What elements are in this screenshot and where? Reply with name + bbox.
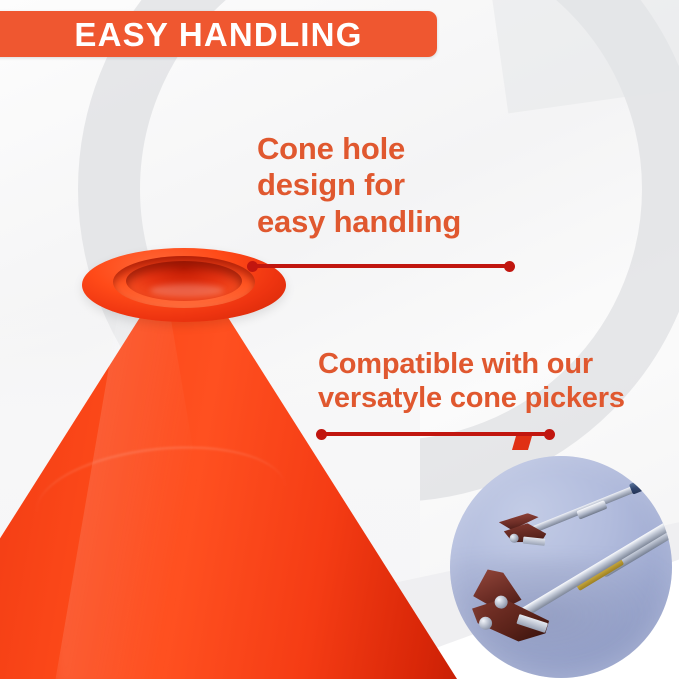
cone-picker-inset-photo <box>450 456 672 678</box>
connector-dot-right <box>504 261 515 272</box>
callout-compatible-pickers: Compatible with our versatyle cone picke… <box>318 348 679 416</box>
connector-dot-right <box>544 429 555 440</box>
cone-hole-gloss <box>150 284 224 297</box>
callout-line: easy handling <box>257 204 527 240</box>
callout-line: design for <box>257 167 527 203</box>
connector-dot-left <box>316 429 327 440</box>
traffic-cone-image <box>0 248 464 679</box>
callout-connector-line-1 <box>250 264 512 268</box>
infographic-canvas: EASY HANDLING Cone hole design for easy … <box>0 0 679 679</box>
header-banner-label: EASY HANDLING <box>60 18 362 51</box>
header-banner: EASY HANDLING <box>0 11 437 57</box>
callout-line: versatyle cone pickers <box>318 382 679 416</box>
connector-dot-left <box>247 261 258 272</box>
callout-line: Cone hole <box>257 131 527 167</box>
picker-upper-clamp-head <box>496 510 546 555</box>
picker-lower-clamp-head <box>465 565 554 649</box>
callout-cone-hole-design: Cone hole design for easy handling <box>257 131 527 240</box>
callout-line: Compatible with our <box>318 348 679 382</box>
clamp-tip <box>523 537 546 546</box>
